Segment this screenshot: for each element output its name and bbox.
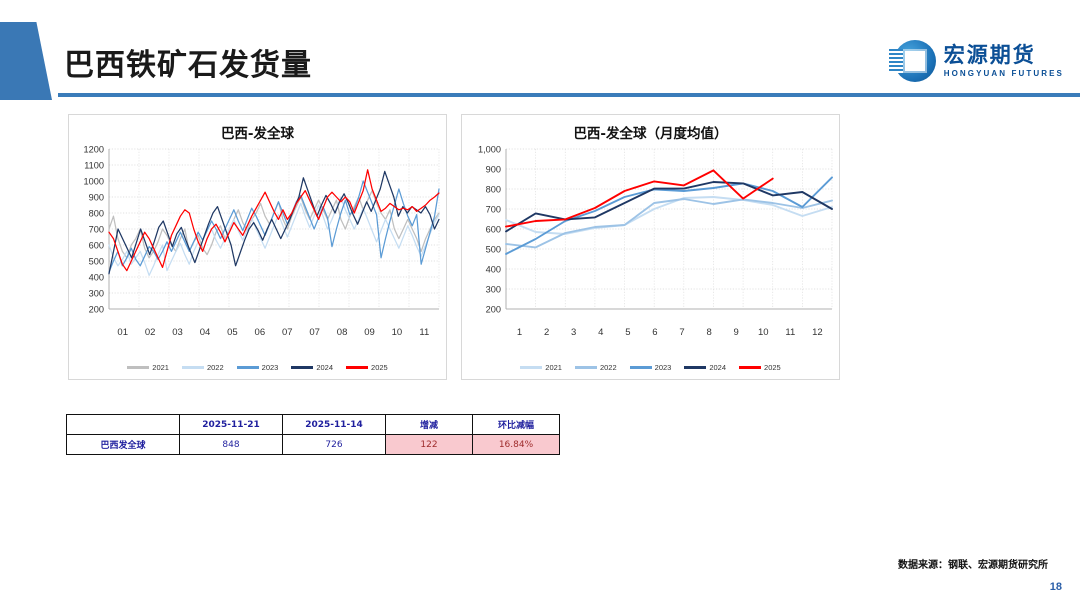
svg-text:1,000: 1,000 — [478, 144, 501, 154]
x-tick-label: 6 — [641, 327, 668, 338]
legend-swatch — [346, 366, 368, 368]
svg-text:900: 900 — [486, 164, 501, 174]
table-header-change: 增减 — [386, 415, 473, 435]
table-row-label: 巴西发全球 — [67, 435, 180, 455]
x-tick-label: 02 — [136, 327, 163, 338]
legend-item-2021: 2021 — [127, 363, 169, 372]
header-divider-line — [58, 93, 1080, 97]
svg-text:800: 800 — [486, 184, 501, 194]
chart-title: 巴西-发全球 — [69, 122, 446, 142]
svg-text:200: 200 — [486, 304, 501, 314]
page-title: 巴西铁矿石发货量 — [64, 40, 312, 84]
brand-name-en: HONGYUAN FUTURES — [944, 70, 1064, 78]
svg-text:200: 200 — [89, 304, 104, 314]
legend-label: 2022 — [207, 363, 224, 372]
chart-legend: 20212022202320242025 — [69, 363, 446, 372]
legend-swatch — [520, 366, 542, 368]
x-tick-label: 04 — [191, 327, 218, 338]
legend-label: 2024 — [316, 363, 333, 372]
x-tick-label: 7 — [668, 327, 695, 338]
table-cell-change: 122 — [386, 435, 473, 455]
x-tick-label: 12 — [804, 327, 831, 338]
svg-text:300: 300 — [486, 284, 501, 294]
x-tick-label: 07 — [274, 327, 301, 338]
chart-x-axis: 123456789101112 — [462, 327, 839, 338]
svg-text:1200: 1200 — [84, 144, 104, 154]
legend-swatch — [684, 366, 706, 368]
x-tick-label: 10 — [383, 327, 410, 338]
legend-label: 2025 — [764, 363, 781, 372]
legend-item-2021: 2021 — [520, 363, 562, 372]
page-number: 18 — [1050, 581, 1062, 593]
legend-swatch — [575, 366, 597, 368]
brand-name-cn: 宏源期货 — [944, 45, 1064, 66]
x-tick-label: 01 — [109, 327, 136, 338]
x-tick-label: 03 — [164, 327, 191, 338]
x-tick-label: 09 — [356, 327, 383, 338]
legend-item-2025: 2025 — [346, 363, 388, 372]
source-note: 数据来源：钢联、宏源期货研究所 — [898, 556, 1048, 571]
svg-text:700: 700 — [486, 204, 501, 214]
summary-table: 2025-11-21 2025-11-14 增减 环比减幅 巴西发全球 848 … — [66, 414, 560, 455]
x-tick-label: 9 — [723, 327, 750, 338]
header-accent-shape — [0, 22, 52, 100]
table-header-change-percent: 环比减幅 — [473, 415, 560, 435]
chart-monthly-average-brazil-global: 巴西-发全球（月度均值） 1,0009008007006005004003002… — [461, 114, 840, 380]
svg-text:500: 500 — [89, 256, 104, 266]
x-tick-label: 8 — [696, 327, 723, 338]
chart-plot-area: 120011001000900800700600500400300200 — [69, 143, 446, 323]
legend-item-2022: 2022 — [575, 363, 617, 372]
x-tick-label: 06 — [246, 327, 273, 338]
svg-text:600: 600 — [89, 240, 104, 250]
slide-header: 巴西铁矿石发货量 宏源期货 HONGYUAN FUTURES — [0, 0, 1080, 104]
chart-legend: 20212022202320242025 — [462, 363, 839, 372]
legend-item-2024: 2024 — [684, 363, 726, 372]
x-tick-label: 08 — [328, 327, 355, 338]
legend-item-2022: 2022 — [182, 363, 224, 372]
x-tick-label: 11 — [411, 327, 438, 338]
svg-text:900: 900 — [89, 192, 104, 202]
chart-plot-area: 1,000900800700600500400300200 — [462, 143, 839, 323]
legend-label: 2023 — [655, 363, 672, 372]
legend-swatch — [739, 366, 761, 368]
legend-swatch — [291, 366, 313, 368]
x-tick-label: 10 — [750, 327, 777, 338]
svg-text:400: 400 — [486, 264, 501, 274]
x-tick-label: 5 — [614, 327, 641, 338]
table-header-previous-date: 2025-11-14 — [283, 415, 386, 435]
legend-label: 2025 — [371, 363, 388, 372]
legend-item-2023: 2023 — [237, 363, 279, 372]
svg-text:1100: 1100 — [84, 160, 104, 170]
legend-label: 2021 — [545, 363, 562, 372]
chart-weekly-brazil-global: 巴西-发全球 120011001000900800700600500400300… — [68, 114, 447, 380]
svg-text:600: 600 — [486, 224, 501, 234]
x-tick-label: 05 — [219, 327, 246, 338]
table-cell-change-percent: 16.84% — [473, 435, 560, 455]
x-tick-label: 2 — [533, 327, 560, 338]
x-tick-label: 07 — [301, 327, 328, 338]
x-tick-label: 11 — [777, 327, 804, 338]
legend-swatch — [237, 366, 259, 368]
table-row: 巴西发全球 848 726 122 16.84% — [67, 435, 560, 455]
chart-x-axis: 010203040506070708091011 — [69, 327, 446, 338]
svg-text:400: 400 — [89, 272, 104, 282]
legend-item-2024: 2024 — [291, 363, 333, 372]
svg-text:300: 300 — [89, 288, 104, 298]
legend-swatch — [182, 366, 204, 368]
legend-label: 2024 — [709, 363, 726, 372]
charts-container: 巴西-发全球 120011001000900800700600500400300… — [68, 114, 840, 378]
x-tick-label: 4 — [587, 327, 614, 338]
table-header-blank — [67, 415, 180, 435]
table-cell-current: 848 — [180, 435, 283, 455]
table-header-current-date: 2025-11-21 — [180, 415, 283, 435]
table-cell-previous: 726 — [283, 435, 386, 455]
legend-swatch — [630, 366, 652, 368]
chart-title: 巴西-发全球（月度均值） — [462, 122, 839, 142]
legend-label: 2021 — [152, 363, 169, 372]
legend-item-2023: 2023 — [630, 363, 672, 372]
legend-swatch — [127, 366, 149, 368]
hongyuan-logo-icon — [894, 40, 936, 82]
svg-text:500: 500 — [486, 244, 501, 254]
svg-text:800: 800 — [89, 208, 104, 218]
x-tick-label: 1 — [506, 327, 533, 338]
legend-item-2025: 2025 — [739, 363, 781, 372]
legend-label: 2023 — [262, 363, 279, 372]
svg-text:1000: 1000 — [84, 176, 104, 186]
legend-label: 2022 — [600, 363, 617, 372]
table-header-row: 2025-11-21 2025-11-14 增减 环比减幅 — [67, 415, 560, 435]
x-tick-label: 3 — [560, 327, 587, 338]
company-logo: 宏源期货 HONGYUAN FUTURES — [894, 38, 1064, 84]
svg-text:700: 700 — [89, 224, 104, 234]
